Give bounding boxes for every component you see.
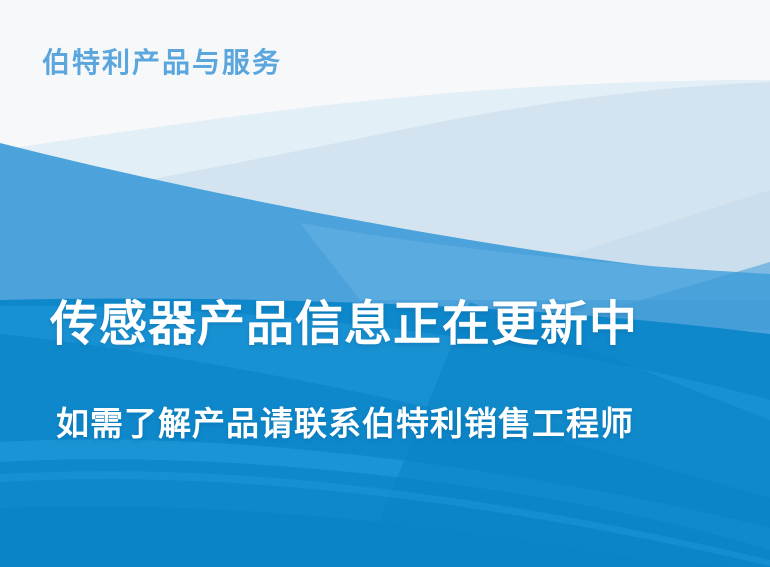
promo-banner: 伯特利产品与服务 传感器产品信息正在更新中 如需了解产品请联系伯特利销售工程师 (0, 0, 770, 567)
page-title: 传感器产品信息正在更新中 (50, 297, 638, 352)
page-subtitle: 如需了解产品请联系伯特利销售工程师 (56, 404, 634, 444)
brand-header: 伯特利产品与服务 (42, 46, 282, 80)
banner-content: 伯特利产品与服务 传感器产品信息正在更新中 如需了解产品请联系伯特利销售工程师 (0, 0, 770, 567)
